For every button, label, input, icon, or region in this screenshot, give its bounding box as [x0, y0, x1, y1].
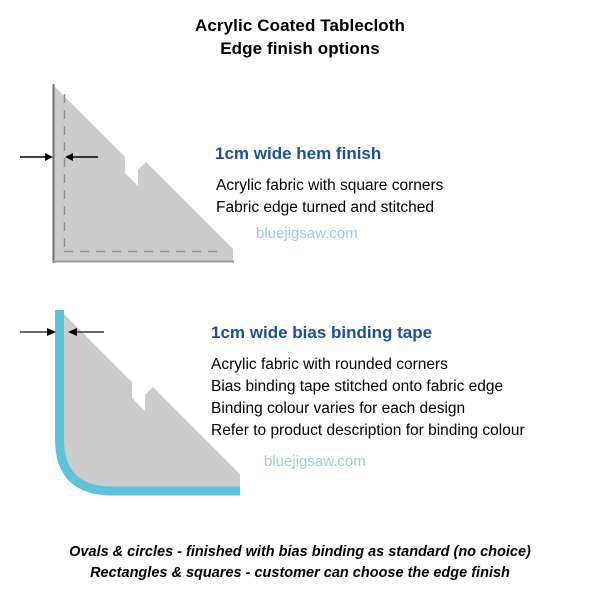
- page-title-line-2: Edge finish options: [0, 37, 600, 60]
- bias-binding-panel: 1cm wide bias binding tape Acrylic fabri…: [206, 322, 600, 473]
- bias-panel-brand: bluejigsaw.com: [264, 451, 600, 473]
- bias-panel-line-3: Binding colour varies for each design: [211, 398, 600, 420]
- bias-panel-line-2: Bias binding tape stitched onto fabric e…: [211, 376, 600, 398]
- fabric-body-square: [53, 85, 233, 262]
- bias-panel-lines: Acrylic fabric with rounded corners Bias…: [211, 354, 600, 442]
- infographic-page: Acrylic Coated Tablecloth Edge finish op…: [0, 0, 600, 600]
- footer-note: Ovals & circles - finished with bias bin…: [0, 542, 600, 584]
- hem-panel-heading: 1cm wide hem finish: [215, 143, 600, 165]
- bias-panel-line-4: Refer to product description for binding…: [211, 420, 600, 442]
- hem-panel-line-1: Acrylic fabric with square corners: [216, 175, 600, 197]
- hem-panel-lines: Acrylic fabric with square corners Fabri…: [216, 175, 600, 219]
- hem-panel-brand: bluejigsaw.com: [256, 223, 600, 245]
- hem-finish-panel: 1cm wide hem finish Acrylic fabric with …: [208, 143, 600, 245]
- footer-line-2: Rectangles & squares - customer can choo…: [0, 563, 600, 584]
- page-title: Acrylic Coated Tablecloth Edge finish op…: [0, 14, 600, 60]
- hem-panel-line-2: Fabric edge turned and stitched: [216, 197, 600, 219]
- bias-panel-line-1: Acrylic fabric with rounded corners: [211, 354, 600, 376]
- page-title-line-1: Acrylic Coated Tablecloth: [0, 14, 600, 37]
- footer-line-1: Ovals & circles - finished with bias bin…: [0, 542, 600, 563]
- bias-panel-heading: 1cm wide bias binding tape: [211, 322, 600, 344]
